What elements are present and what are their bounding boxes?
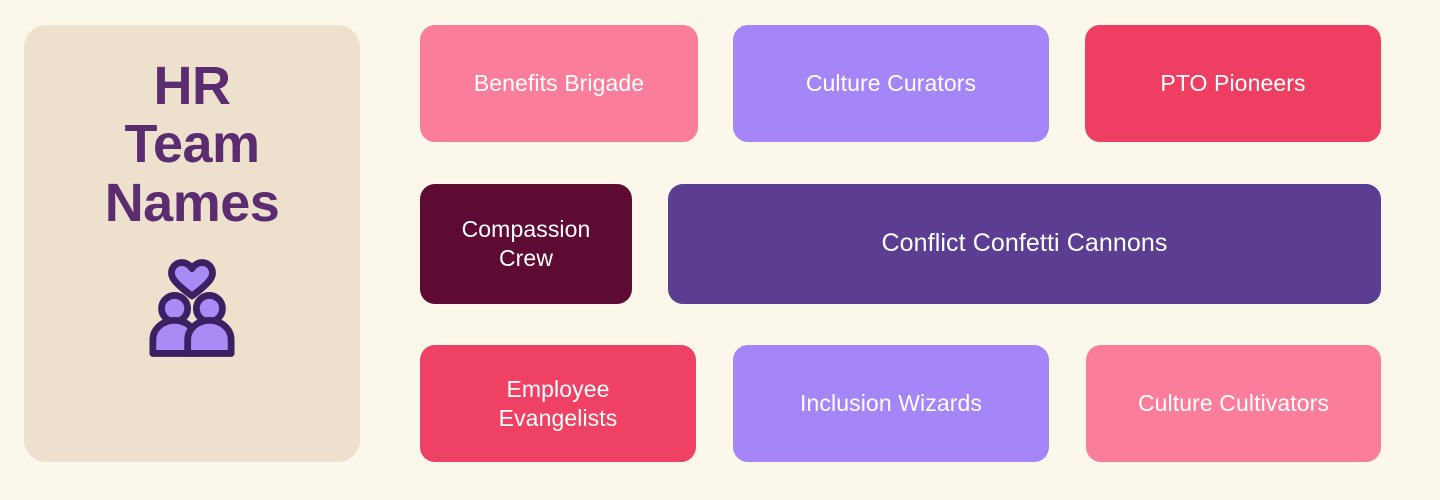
- team-name-card[interactable]: Compassion Crew: [420, 184, 632, 304]
- team-name-card[interactable]: Employee Evangelists: [420, 345, 696, 462]
- people-with-heart-icon: [134, 250, 250, 366]
- page-title: HR Team Names: [24, 57, 360, 232]
- team-name-card[interactable]: Conflict Confetti Cannons: [668, 184, 1381, 304]
- team-name-label: Benefits Brigade: [474, 69, 644, 98]
- team-name-label: Culture Curators: [806, 69, 976, 98]
- team-name-label: Culture Cultivators: [1138, 389, 1329, 418]
- team-name-label: Compassion Crew: [462, 215, 591, 273]
- team-name-row: Employee Evangelists Inclusion Wizards C…: [420, 345, 1381, 462]
- team-name-card[interactable]: Benefits Brigade: [420, 25, 698, 142]
- title-panel: HR Team Names: [24, 25, 360, 462]
- team-name-label: Conflict Confetti Cannons: [882, 228, 1168, 259]
- team-name-card[interactable]: Culture Cultivators: [1086, 345, 1381, 462]
- hr-team-names-board: HR Team Names Benefits Brigade Culture C…: [0, 0, 1440, 500]
- team-name-card[interactable]: Culture Curators: [733, 25, 1049, 142]
- team-name-grid: Benefits Brigade Culture Curators PTO Pi…: [420, 25, 1381, 462]
- team-name-label: PTO Pioneers: [1160, 69, 1305, 98]
- team-name-card[interactable]: PTO Pioneers: [1085, 25, 1381, 142]
- team-name-label: Employee Evangelists: [499, 375, 618, 433]
- team-name-label: Inclusion Wizards: [800, 389, 982, 418]
- team-name-row: Benefits Brigade Culture Curators PTO Pi…: [420, 25, 1381, 142]
- team-name-card[interactable]: Inclusion Wizards: [733, 345, 1049, 462]
- team-name-row: Compassion Crew Conflict Confetti Cannon…: [420, 184, 1381, 304]
